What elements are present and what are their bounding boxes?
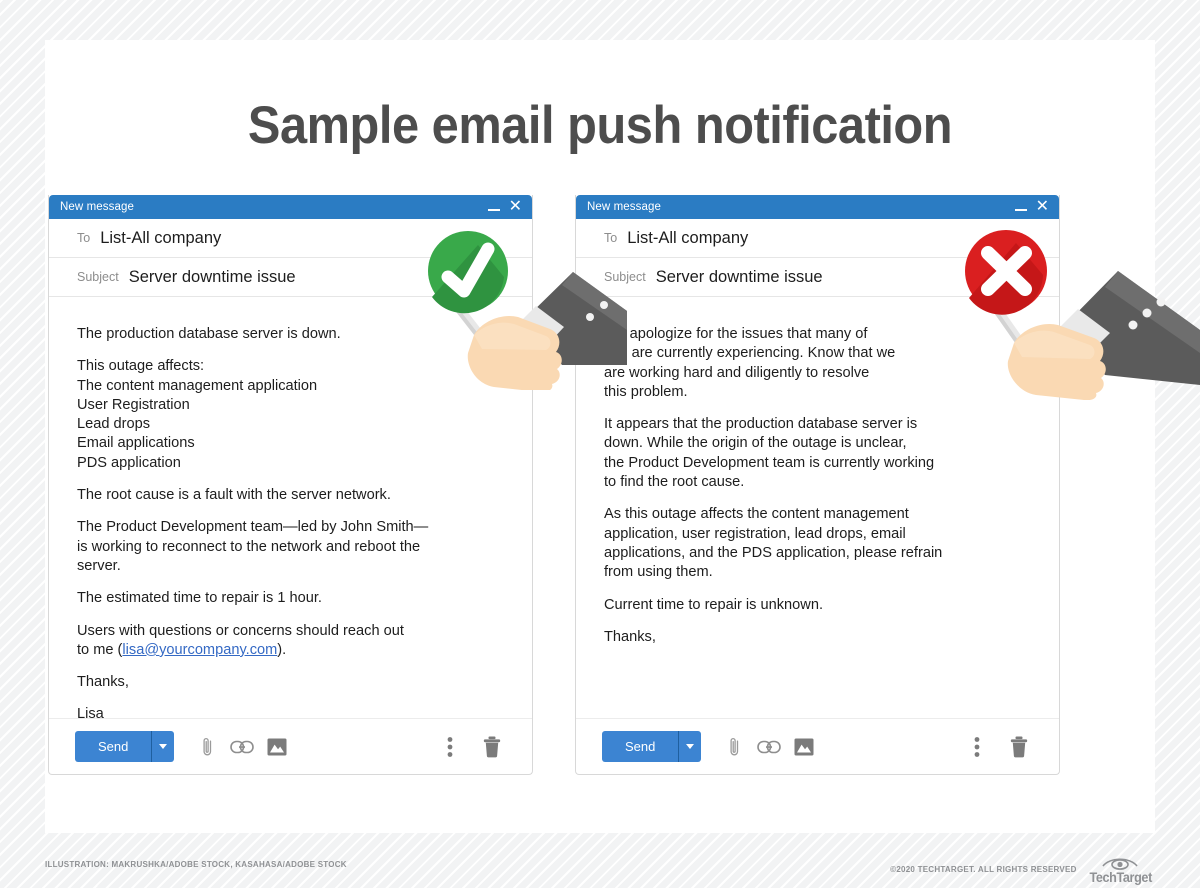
send-button-group: Send [75,731,174,762]
minimize-icon[interactable] [488,203,500,211]
more-options-kebab-icon[interactable] [962,732,992,762]
window-controls: ✕ [488,200,522,214]
body-paragraph: We apologize for the issues that many of… [604,325,1033,402]
body-paragraph: Thanks, [604,628,1033,647]
to-value: List-All company [100,229,221,248]
body-paragraph: It appears that the production database … [604,415,1033,492]
send-button[interactable]: Send [602,731,678,762]
to-label: To [604,231,617,245]
subject-label: Subject [604,270,646,284]
techtarget-logo: TechTarget [1086,855,1155,884]
body-paragraph: The Product Development team—led by John… [77,518,506,576]
email-body-bad[interactable]: We apologize for the issues that many of… [576,297,1059,718]
body-paragraph: This outage affects: The content managem… [77,357,506,473]
send-button[interactable]: Send [75,731,151,762]
image-icon[interactable] [262,732,292,762]
subject-value: Server downtime issue [129,268,296,287]
subject-value: Server downtime issue [656,268,823,287]
footer-branding: ©2020 TECHTARGET. ALL RIGHTS RESERVED Te… [890,855,1155,884]
window-titlebar: New message ✕ [49,195,532,219]
paperclip-icon[interactable] [719,732,749,762]
illustration-credit: ILLUSTRATION: MAKRUSHKA/ADOBE STOCK, KAS… [45,860,347,869]
window-title: New message [587,201,661,213]
window-titlebar: New message ✕ [576,195,1059,219]
paragraph-suffix: ). [277,642,286,658]
more-options-kebab-icon[interactable] [435,732,465,762]
body-paragraph: Lisa [77,705,506,718]
body-paragraph: Thanks, [77,673,506,692]
email-composer-window-bad: New message ✕ To List-All company Subjec… [575,195,1060,775]
body-paragraph: The production database server is down. [77,325,506,344]
body-paragraph: The root cause is a fault with the serve… [77,486,506,505]
send-options-caret-icon[interactable] [678,731,701,762]
body-paragraph: As this outage affects the content manag… [604,505,1033,582]
trash-icon[interactable] [1004,732,1034,762]
window-controls: ✕ [1015,200,1049,214]
subject-label: Subject [77,270,119,284]
paperclip-icon[interactable] [192,732,222,762]
subject-field-row[interactable]: Subject Server downtime issue [576,258,1059,297]
send-options-caret-icon[interactable] [151,731,174,762]
image-icon[interactable] [789,732,819,762]
body-paragraph-with-link: Users with questions or concerns should … [77,622,506,661]
email-body-good[interactable]: The production database server is down. … [49,297,532,718]
body-paragraph: The estimated time to repair is 1 hour. [77,589,506,608]
to-field-row[interactable]: To List-All company [49,219,532,258]
compose-toolbar: Send [576,718,1059,774]
link-icon[interactable] [227,732,257,762]
to-label: To [77,231,90,245]
to-field-row[interactable]: To List-All company [576,219,1059,258]
page-title: Sample email push notification [89,95,1110,156]
body-paragraph: Current time to repair is unknown. [604,596,1033,615]
copyright-text: ©2020 TECHTARGET. ALL RIGHTS RESERVED [890,865,1076,874]
minimize-icon[interactable] [1015,203,1027,211]
close-icon[interactable]: ✕ [1036,200,1049,214]
subject-field-row[interactable]: Subject Server downtime issue [49,258,532,297]
email-composer-window-good: New message ✕ To List-All company Subjec… [48,195,533,775]
close-icon[interactable]: ✕ [509,200,522,214]
eye-icon [1100,855,1140,870]
link-icon[interactable] [754,732,784,762]
window-title: New message [60,201,134,213]
trash-icon[interactable] [477,732,507,762]
send-button-group: Send [602,731,701,762]
to-value: List-All company [627,229,748,248]
email-address-link[interactable]: lisa@yourcompany.com [122,642,277,658]
techtarget-wordmark: TechTarget [1089,870,1151,884]
compose-toolbar: Send [49,718,532,774]
